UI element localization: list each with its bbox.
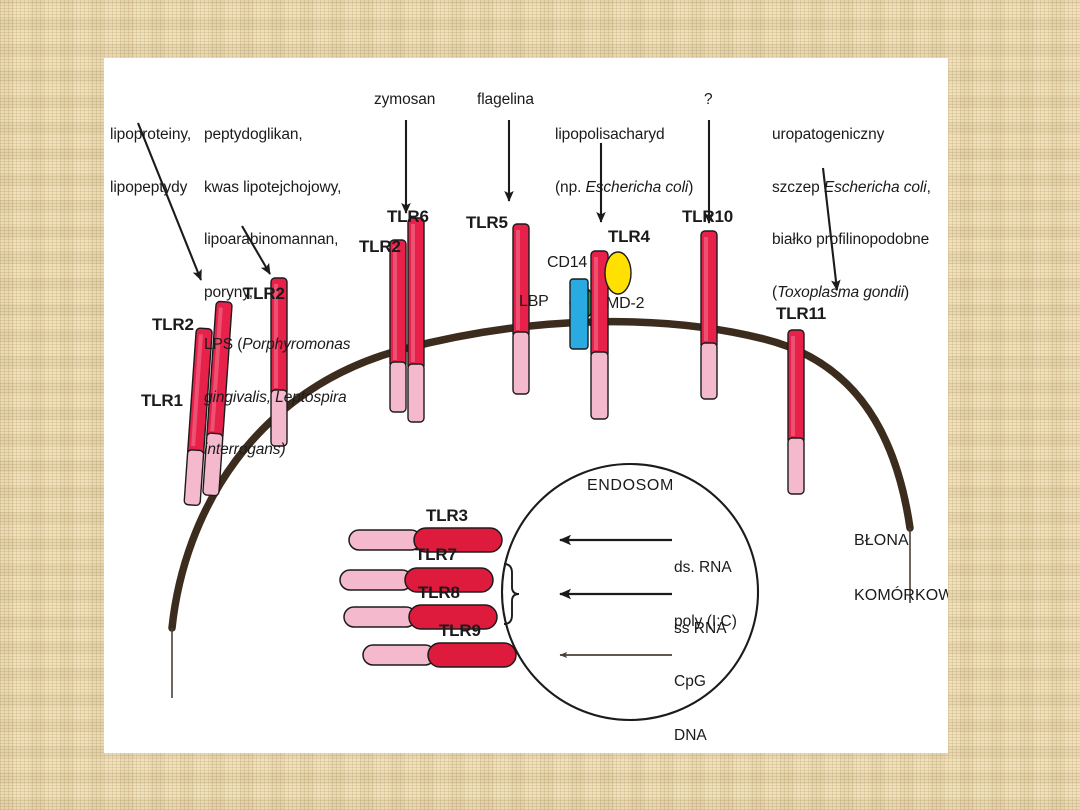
- ligand-label-unknown: ?: [704, 91, 713, 109]
- ligand-label-lps: lipopolisacharyd (np. Eschericha coli): [555, 91, 693, 231]
- receptor-tlr10: [701, 231, 717, 399]
- ligand-pg-line6: gingivalis, Leptospira: [204, 389, 350, 407]
- label-tlr2-left: TLR2: [152, 315, 194, 334]
- label-tlr9: TLR9: [439, 621, 481, 640]
- label-lbp: LBP: [519, 293, 549, 311]
- ligand-pg-line7: interrogans): [204, 441, 350, 459]
- ligand-uro-line3: białko profilinopodobne: [772, 231, 931, 249]
- ligand-pg-line5: LPS (Porphyromonas: [204, 336, 350, 354]
- membrane-label-line1: BŁONA: [854, 532, 948, 550]
- ligand-uro-line2-prefix: szczep: [772, 179, 824, 196]
- ligand-label-flagellin: flagelina: [477, 91, 534, 109]
- label-tlr7: TLR7: [415, 545, 457, 564]
- receptor-tlr4-complex: [570, 251, 631, 419]
- ligand-lps-line2-prefix: (np.: [555, 179, 586, 196]
- ligand-lps-line2-species: Eschericha coli: [586, 179, 689, 196]
- ligand-pg-line1: peptydoglikan,: [204, 126, 350, 144]
- tlr7-tlr8-brace: [504, 564, 519, 624]
- ligand-uro-line2-species: Eschericha coli: [824, 179, 927, 196]
- label-tlr5: TLR5: [466, 213, 508, 232]
- ligand-uro-line1: uropatogeniczny: [772, 126, 931, 144]
- ligand-lps-line2-suffix: ): [688, 179, 693, 196]
- ligand-lps-line2: (np. Eschericha coli): [555, 179, 693, 197]
- ligand-label-uropathogenic: uropatogeniczny szczep Eschericha coli, …: [772, 91, 931, 336]
- ligand-lps-line1: lipopolisacharyd: [555, 126, 693, 144]
- label-tlr2-pair: TLR2: [359, 237, 401, 256]
- ligand-label-lipoproteins: lipoproteiny, lipopeptydy: [110, 91, 191, 231]
- ligand-uro-line2: szczep Eschericha coli,: [772, 179, 931, 197]
- ligand-uro-line2-suffix: ,: [927, 179, 931, 196]
- ligand-uro-line4-species: Toxoplasma gondii: [777, 284, 904, 301]
- ligand-pg-line5-species: Porphyromonas: [242, 336, 350, 353]
- receptor-tlr7: [340, 568, 493, 592]
- receptor-tlr2-pair-left: [390, 240, 406, 412]
- label-tlr11: TLR11: [776, 304, 826, 323]
- cargo-cpg-dna-line2: DNA: [674, 727, 707, 745]
- label-tlr3: TLR3: [426, 506, 468, 525]
- receptor-tlr6: [408, 218, 424, 422]
- cd14-rect: [570, 279, 588, 349]
- cargo-ds-rna-line1: ds. RNA: [674, 559, 737, 577]
- ligand-lipoproteins-line1: lipoproteiny,: [110, 126, 191, 144]
- ligand-lipoproteins-line2: lipopeptydy: [110, 179, 191, 197]
- ligand-pg-line6-species: gingivalis, Leptospira: [204, 389, 347, 406]
- cargo-label-cpg-dna: CpG DNA: [674, 636, 707, 753]
- ligand-pg-line3: lipoarabinomannan,: [204, 231, 350, 249]
- label-tlr1: TLR1: [141, 391, 183, 410]
- label-tlr2-solo: TLR2: [243, 284, 285, 303]
- figure-panel: lipoproteiny, lipopeptydy peptydoglikan,…: [104, 58, 948, 753]
- ligand-uro-line4-suffix: ): [904, 284, 909, 301]
- label-tlr10: TLR10: [682, 207, 733, 226]
- label-cd14: CD14: [547, 254, 587, 272]
- label-cell-membrane: BŁONA KOMÓRKOWA: [854, 496, 948, 642]
- cargo-cpg-dna-line1: CpG: [674, 673, 707, 691]
- label-tlr8: TLR8: [418, 583, 460, 602]
- label-tlr6: TLR6: [387, 207, 429, 226]
- label-md2: MD-2: [606, 295, 644, 313]
- ligand-uro-line4: (Toxoplasma gondii): [772, 284, 931, 302]
- receptor-tlr11: [788, 330, 804, 494]
- ligand-pg-line2: kwas lipotejchojowy,: [204, 179, 350, 197]
- receptor-tlr9: [363, 643, 516, 667]
- ligand-label-zymosan: zymosan: [374, 91, 435, 109]
- ligand-pg-line7-species: interrogans): [204, 441, 286, 458]
- label-tlr4: TLR4: [608, 227, 650, 246]
- membrane-label-line2: KOMÓRKOWA: [854, 587, 948, 605]
- label-endosome: ENDOSOM: [587, 477, 674, 495]
- md2-ellipse: [605, 252, 631, 294]
- ligand-pg-line5-prefix: LPS (: [204, 336, 242, 353]
